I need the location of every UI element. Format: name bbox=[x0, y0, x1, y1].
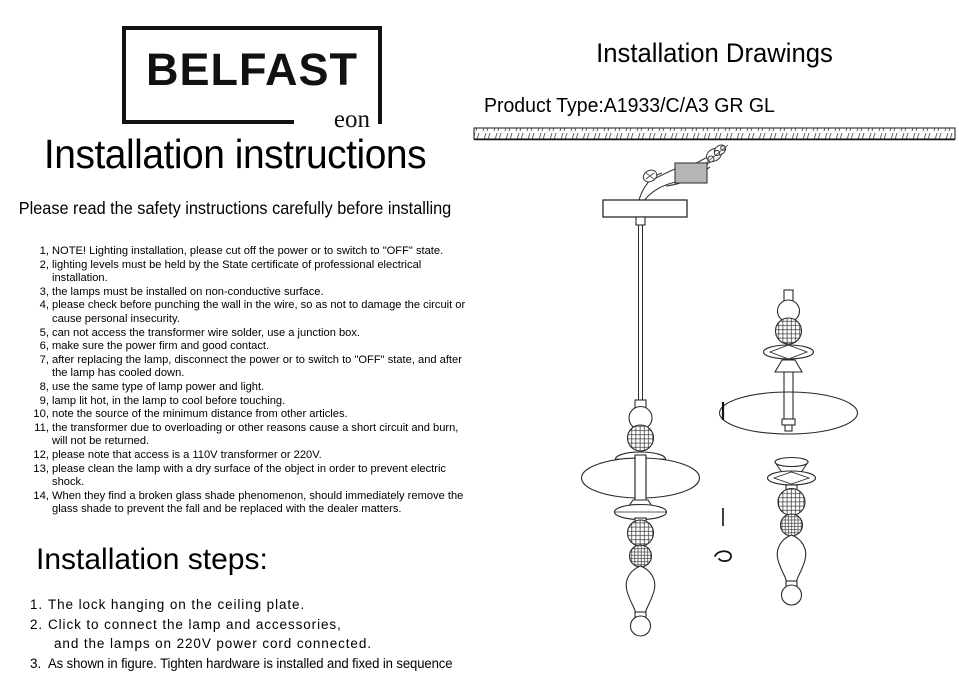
list-item-number: 1, bbox=[28, 245, 52, 259]
suspension-cable bbox=[639, 225, 643, 403]
list-item-text: As shown in figure. Tighten hardware is … bbox=[48, 654, 457, 674]
page-subtitle: Please read the safety instructions care… bbox=[16, 200, 453, 218]
list-item-text: make sure the power firm and good contac… bbox=[52, 340, 470, 354]
installation-steps-list: 1. The lock hanging on the ceiling plate… bbox=[30, 595, 470, 673]
list-item-number: 9, bbox=[28, 395, 52, 409]
wire-connector-right bbox=[704, 143, 728, 164]
list-item-number: 8, bbox=[28, 381, 52, 395]
brand-logo: BELFAST eon bbox=[122, 26, 382, 124]
exploded-part-upper bbox=[720, 290, 858, 434]
drawings-column: Installation Drawings Product Type:A1933… bbox=[470, 0, 959, 678]
list-item-text: please clean the lamp with a dry surface… bbox=[52, 463, 470, 490]
list-item-number: 3, bbox=[28, 286, 52, 300]
list-item: 5, can not access the transformer wire s… bbox=[28, 327, 476, 341]
list-item-text: after replacing the lamp, disconnect the… bbox=[52, 354, 470, 381]
list-item-number: 2, bbox=[28, 259, 52, 273]
list-item: 8, use the same type of lamp power and l… bbox=[28, 381, 476, 395]
list-item-number: 13, bbox=[28, 463, 52, 477]
list-item: 14, When they find a broken glass shade … bbox=[28, 490, 476, 517]
list-item-text: please check before punching the wall in… bbox=[52, 299, 470, 326]
assembly-alignment-marks bbox=[715, 402, 731, 561]
instructions-column: BELFAST eon Installation instructions Pl… bbox=[0, 0, 470, 678]
list-item: 1, NOTE! Lighting installation, please c… bbox=[28, 245, 476, 259]
list-item-number: 14, bbox=[28, 490, 52, 504]
list-item-text: Click to connect the lamp and accessorie… bbox=[48, 615, 470, 635]
list-item-continuation: and the lamps on 220V power cord connect… bbox=[30, 634, 470, 654]
list-item: 1. The lock hanging on the ceiling plate… bbox=[30, 595, 470, 615]
brand-wordmark: BELFAST bbox=[122, 47, 382, 92]
list-item-number: 2. bbox=[30, 615, 48, 635]
list-item: 2, lighting levels must be held by the S… bbox=[28, 259, 476, 286]
list-item-number: 12, bbox=[28, 449, 52, 463]
list-item-text: lamp lit hot, in the lamp to cool before… bbox=[52, 395, 470, 409]
wire-connector-left bbox=[641, 168, 659, 184]
list-item-text: The lock hanging on the ceiling plate. bbox=[48, 595, 470, 615]
list-item-text: use the same type of lamp power and ligh… bbox=[52, 381, 470, 395]
list-item-text: note the source of the minimum distance … bbox=[52, 408, 470, 422]
list-item: 6, make sure the power firm and good con… bbox=[28, 340, 476, 354]
installation-steps-heading: Installation steps: bbox=[36, 545, 268, 575]
list-item: 13, please clean the lamp with a dry sur… bbox=[28, 463, 476, 490]
main-pendant-assembly bbox=[582, 400, 700, 636]
list-item-number: 7, bbox=[28, 354, 52, 368]
safety-instructions-list: 1, NOTE! Lighting installation, please c… bbox=[28, 245, 476, 517]
list-item-number: 11, bbox=[28, 422, 52, 436]
list-item-text: NOTE! Lighting installation, please cut … bbox=[52, 245, 470, 259]
list-item: 7, after replacing the lamp, disconnect … bbox=[28, 354, 476, 381]
ceiling-surface bbox=[474, 128, 955, 140]
list-item: 2. Click to connect the lamp and accesso… bbox=[30, 615, 470, 635]
installation-instruction-sheet: BELFAST eon Installation instructions Pl… bbox=[0, 0, 959, 678]
page-title: Installation instructions bbox=[12, 134, 459, 175]
brand-sub-wordmark: eon bbox=[334, 107, 370, 132]
list-item-text: lighting levels must be held by the Stat… bbox=[52, 259, 470, 286]
list-item-text: and the lamps on 220V power cord connect… bbox=[30, 636, 372, 651]
list-item-text: the lamps must be installed on non-condu… bbox=[52, 286, 470, 300]
list-item: 11, the transformer due to overloading o… bbox=[28, 422, 476, 449]
list-item: 12, please note that access is a 110V tr… bbox=[28, 449, 476, 463]
list-item: 9, lamp lit hot, in the lamp to cool bef… bbox=[28, 395, 476, 409]
list-item: 4, please check before punching the wall… bbox=[28, 299, 476, 326]
list-item-number: 5, bbox=[28, 327, 52, 341]
list-item-number: 3. bbox=[30, 654, 48, 674]
transformer-box bbox=[675, 163, 707, 183]
list-item-number: 10, bbox=[28, 408, 52, 422]
list-item-number: 1. bbox=[30, 595, 48, 615]
exploded-part-lower bbox=[768, 458, 816, 606]
list-item-number: 6, bbox=[28, 340, 52, 354]
list-item-number: 4, bbox=[28, 299, 52, 313]
ceiling-canopy-plate bbox=[603, 200, 687, 225]
list-item-text: When they find a broken glass shade phen… bbox=[52, 490, 470, 517]
technical-drawing bbox=[470, 0, 959, 678]
list-item: 3. As shown in figure. Tighten hardware … bbox=[30, 654, 470, 674]
list-item: 10, note the source of the minimum dista… bbox=[28, 408, 476, 422]
list-item-text: can not access the transformer wire sold… bbox=[52, 327, 470, 341]
list-item-text: the transformer due to overloading or ot… bbox=[52, 422, 470, 449]
list-item: 3, the lamps must be installed on non-co… bbox=[28, 286, 476, 300]
list-item-text: please note that access is a 110V transf… bbox=[52, 449, 470, 463]
